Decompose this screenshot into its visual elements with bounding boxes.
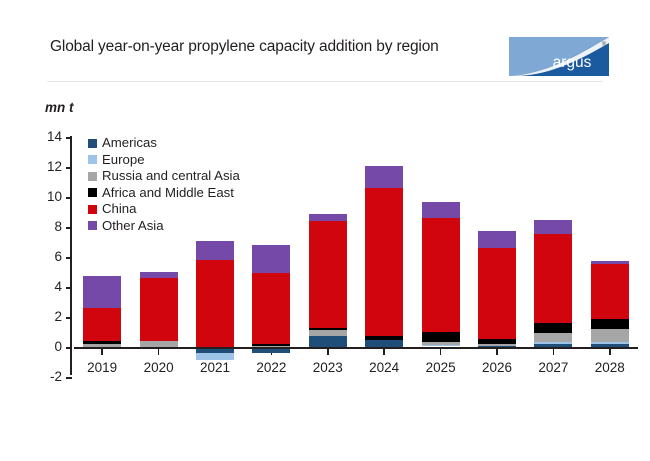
legend-item-africa-and-middle-east[interactable]: Africa and Middle East (88, 185, 318, 202)
legend-item-label: Americas (102, 135, 157, 152)
legend-item-americas[interactable]: Americas (88, 135, 318, 152)
legend-item-other-asia[interactable]: Other Asia (88, 218, 318, 235)
legend-item-label: Russia and central Asia (102, 168, 240, 185)
bar-segment[interactable] (591, 319, 629, 329)
legend-swatch-icon (88, 205, 97, 214)
legend-swatch-icon (88, 139, 97, 148)
legend-swatch-icon (88, 221, 97, 230)
legend-item-russia-and-central-asia[interactable]: Russia and central Asia (88, 168, 318, 185)
legend-item-china[interactable]: China (88, 201, 318, 218)
legend-item-label: Other Asia (102, 218, 164, 235)
legend-item-label: China (102, 201, 136, 218)
legend-swatch-icon (88, 155, 97, 164)
legend-swatch-icon (88, 172, 97, 181)
bar-segment[interactable] (591, 264, 629, 320)
chart-card: Global year-on-year propylene capacity a… (0, 0, 650, 461)
legend-item-europe[interactable]: Europe (88, 152, 318, 169)
legend-item-label: Europe (102, 152, 145, 169)
bar-segment[interactable] (591, 261, 629, 264)
chart-legend: AmericasEuropeRussia and central AsiaAfr… (88, 135, 318, 234)
bar-segment[interactable] (591, 329, 629, 343)
legend-swatch-icon (88, 188, 97, 197)
zero-baseline (74, 347, 638, 349)
legend-item-label: Africa and Middle East (102, 185, 234, 202)
bar-segment[interactable] (591, 342, 629, 344)
